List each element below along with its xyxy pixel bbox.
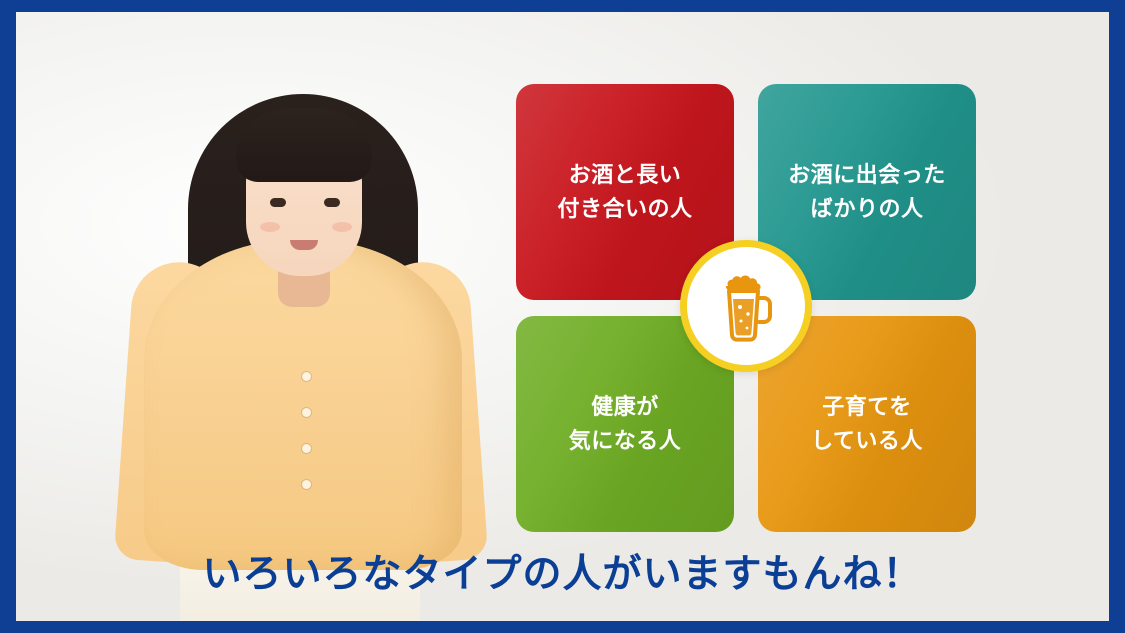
quadrant-panel: お酒と長い 付き合いの人 お酒に出会った ばかりの人 健康が 気になる人 子育て… bbox=[516, 84, 976, 532]
presenter-eye-right bbox=[324, 198, 340, 207]
presenter-button bbox=[302, 480, 311, 489]
presenter-button bbox=[302, 408, 311, 417]
tile-top-left-label: お酒と長い 付き合いの人 bbox=[557, 158, 692, 226]
presenter-cheek-left bbox=[260, 222, 280, 232]
presenter-fringe bbox=[236, 108, 372, 182]
presenter-button bbox=[302, 372, 311, 381]
slide-canvas: お酒と長い 付き合いの人 お酒に出会った ばかりの人 健康が 気になる人 子育て… bbox=[16, 12, 1109, 621]
presenter-figure bbox=[136, 72, 466, 621]
tile-bottom-right-label: 子育てを している人 bbox=[811, 390, 923, 458]
presenter-eye-left bbox=[270, 198, 286, 207]
subtitle-text: いろいろなタイプの人がいますもんね！ bbox=[16, 543, 1109, 599]
tile-bottom-left-label: 健康が 気になる人 bbox=[569, 390, 682, 458]
center-badge bbox=[680, 240, 812, 372]
beer-glass-icon bbox=[716, 269, 776, 343]
tile-top-right-label: お酒に出会った ばかりの人 bbox=[788, 158, 946, 226]
presenter-cheek-right bbox=[332, 222, 352, 232]
video-frame: お酒と長い 付き合いの人 お酒に出会った ばかりの人 健康が 気になる人 子育て… bbox=[0, 0, 1125, 633]
presenter-button bbox=[302, 444, 311, 453]
